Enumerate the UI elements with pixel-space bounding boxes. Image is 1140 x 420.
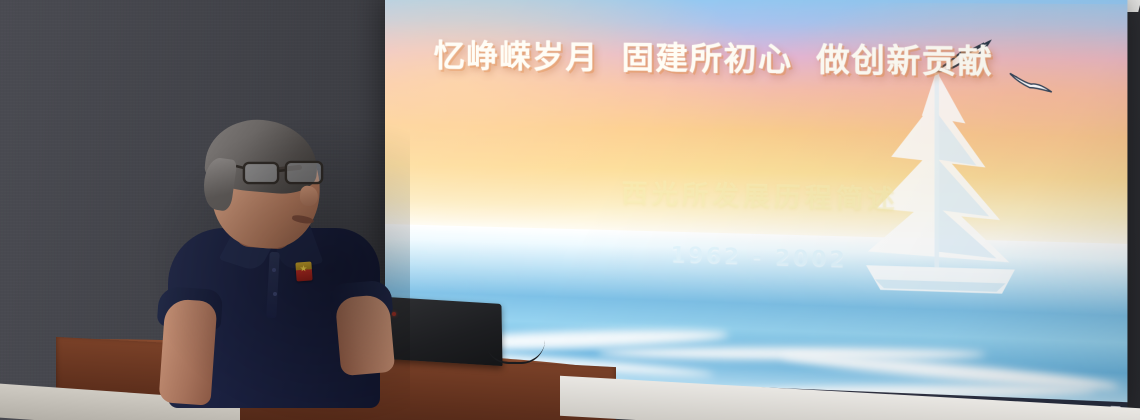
slide-title-part-1: 忆峥嵘岁月 — [434, 30, 599, 77]
laptop-indicator-light — [392, 312, 396, 316]
slide-title: 忆峥嵘岁月 固建所初心 做创新贡献 — [434, 30, 1072, 83]
eyeglasses-icon — [236, 152, 332, 196]
slide-title-part-3: 做创新贡献 — [816, 34, 993, 83]
slide-title-part-2: 固建所初心 — [622, 32, 793, 80]
party-emblem-badge — [295, 261, 312, 281]
presenter-arm-left — [158, 298, 217, 405]
presentation-scene: 忆峥嵘岁月 固建所初心 做创新贡献 西光所发展历程简述 1962 - 2002 — [0, 0, 1140, 420]
shirt-button — [273, 292, 277, 296]
presenter-arm-right — [335, 294, 396, 376]
shirt-button — [272, 268, 276, 272]
